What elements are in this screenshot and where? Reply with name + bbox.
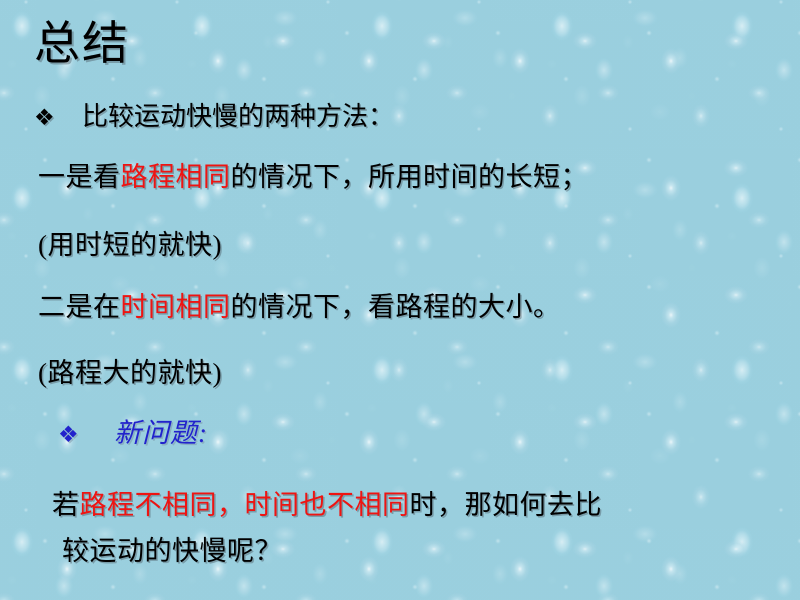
method-one-suffix: 的情况下，所用时间的长短； [231, 162, 589, 192]
slide-title: 总结 [34, 21, 130, 67]
method-two-prefix: 二是在 [38, 292, 121, 322]
new-question-suffix: 时，那如何去比 [410, 490, 603, 520]
slide-content: 总结 ❖比较运动快慢的两种方法： 一是看路程相同的情况下，所用时间的长短； (用… [0, 0, 800, 600]
method-two-highlight: 时间相同 [121, 292, 231, 322]
new-question-highlight-a: 路程不相同， [80, 490, 245, 520]
diamond-bullet-icon-blue: ❖ [58, 423, 80, 446]
new-question-line-2: 较运动的快慢呢？ [62, 538, 282, 565]
method-two-line: 二是在时间相同的情况下，看路程的大小。 [38, 294, 561, 321]
heading-text: 比较运动快慢的两种方法： [82, 104, 394, 130]
heading-bullet-line: ❖比较运动快慢的两种方法： [34, 104, 394, 130]
method-two-suffix: 的情况下，看路程的大小。 [231, 292, 561, 322]
new-question-line-1: 若路程不相同，时间也不相同时，那如何去比 [52, 492, 602, 519]
method-one-prefix: 一是看 [38, 162, 121, 192]
method-one-line: 一是看路程相同的情况下，所用时间的长短； [38, 164, 588, 191]
method-one-note: (用时短的就快) [38, 232, 222, 259]
new-question-highlight-b: 时间也不相同 [245, 490, 410, 520]
new-question-prefix: 若 [52, 490, 80, 520]
diamond-bullet-icon: ❖ [34, 106, 56, 129]
new-question-bullet-line: ❖新问题: [58, 420, 208, 447]
new-question-label: 新问题: [114, 420, 208, 447]
method-two-note: (路程大的就快) [38, 360, 222, 387]
slide-canvas: 总结 ❖比较运动快慢的两种方法： 一是看路程相同的情况下，所用时间的长短； (用… [0, 0, 800, 600]
method-one-highlight: 路程相同 [121, 162, 231, 192]
